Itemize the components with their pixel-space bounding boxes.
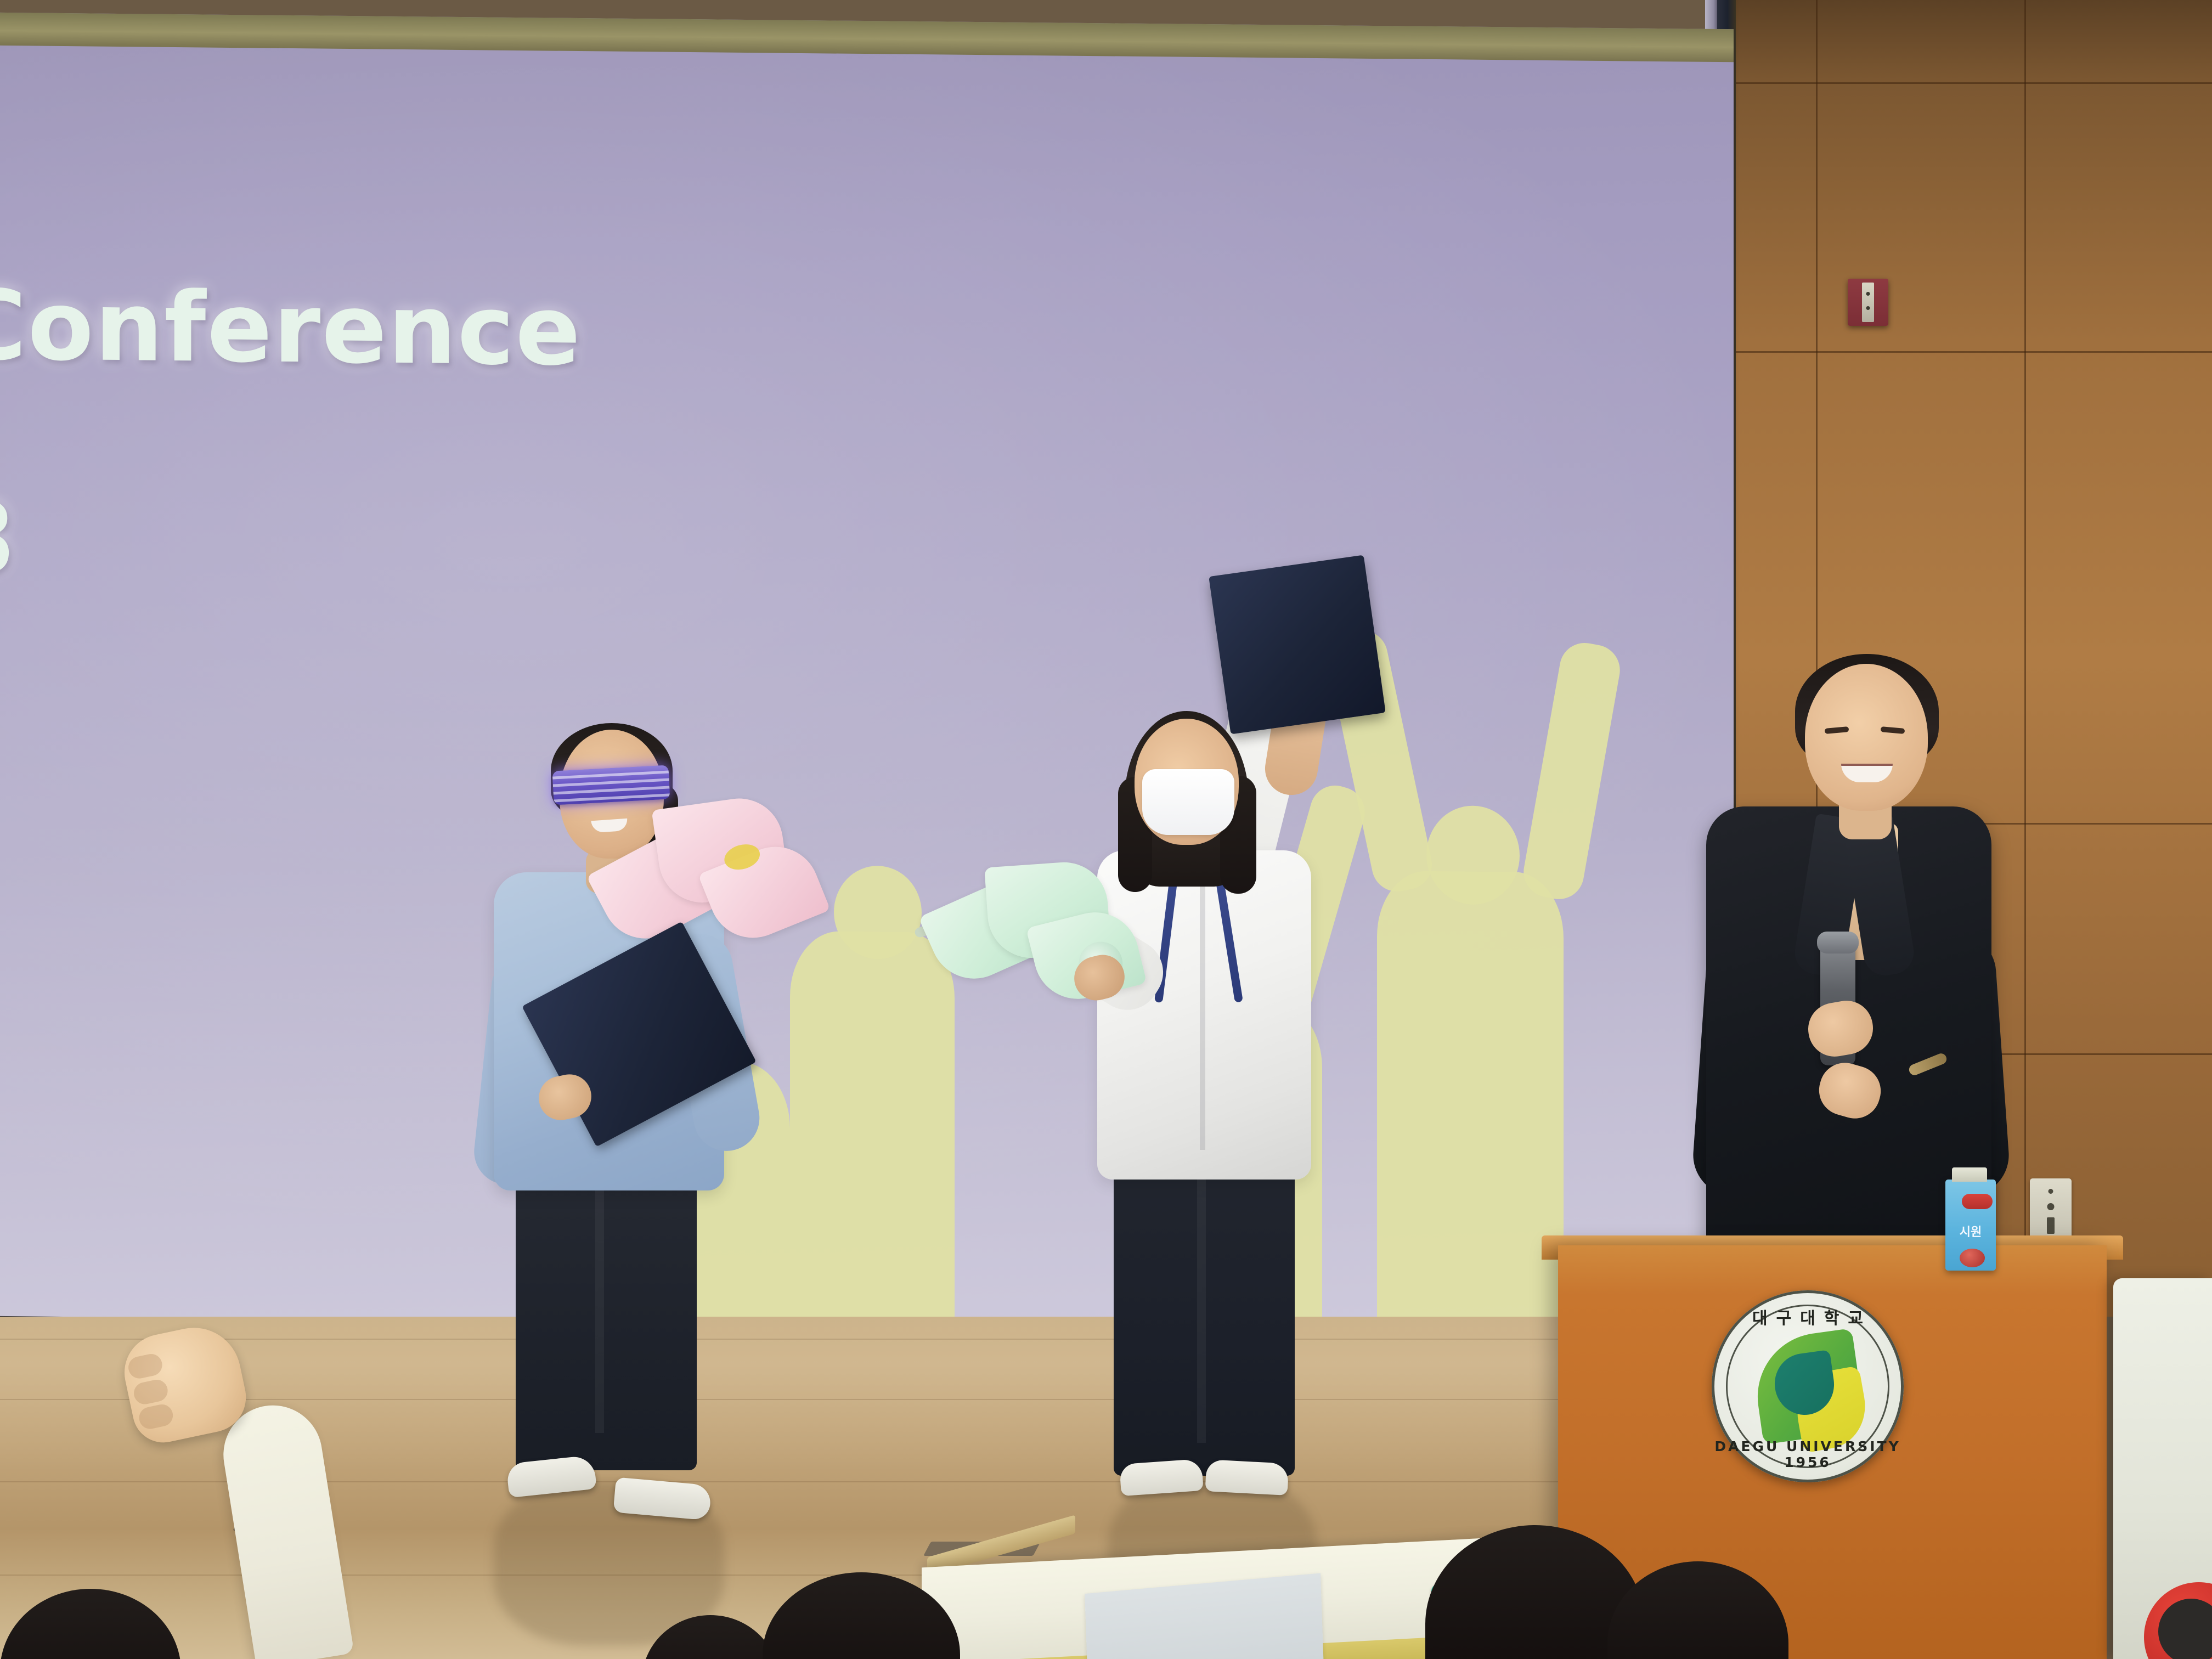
slide-partial-number: 8 xyxy=(0,481,15,596)
recipient-right-shoe xyxy=(1205,1459,1289,1496)
wall-outlet-icon xyxy=(2030,1178,2072,1243)
photo-scene: Conference 8 xyxy=(0,0,2212,1659)
certificate-folder-raised xyxy=(1209,555,1386,735)
projection-screen: Conference 8 xyxy=(0,13,1734,1352)
lanyard xyxy=(1162,877,1233,1003)
recipient-left-trousers xyxy=(516,1158,697,1470)
slide-silhouette-figure xyxy=(790,931,955,1350)
slide-silhouette-figure xyxy=(1377,871,1564,1355)
recipient-right-trousers xyxy=(1114,1147,1295,1476)
emblem-english-name: DAEGU UNIVERSITY 1956 xyxy=(1712,1438,1904,1470)
slide-headline: Conference xyxy=(0,270,582,387)
emblem-mark-icon xyxy=(1756,1335,1859,1438)
face-mask-icon xyxy=(1142,769,1234,835)
beverage-carton: 시원 xyxy=(1945,1180,1996,1271)
led-shutter-glasses-icon xyxy=(552,765,670,805)
host-face xyxy=(1805,664,1928,811)
slide-silhouette-head xyxy=(1426,805,1520,905)
emblem-korean-name: 대구대학교 xyxy=(1712,1305,1904,1329)
fire-alarm-pull-station-icon xyxy=(1848,279,1888,326)
recipient-right-shoe xyxy=(1119,1459,1204,1496)
slide-silhouette-head xyxy=(834,866,922,960)
right-side-panel xyxy=(2113,1278,2212,1659)
red-object xyxy=(2144,1582,2212,1659)
university-emblem: 대구대학교 DAEGU UNIVERSITY 1956 xyxy=(1712,1290,1904,1482)
beverage-label-text: 시원 xyxy=(1945,1222,1996,1240)
